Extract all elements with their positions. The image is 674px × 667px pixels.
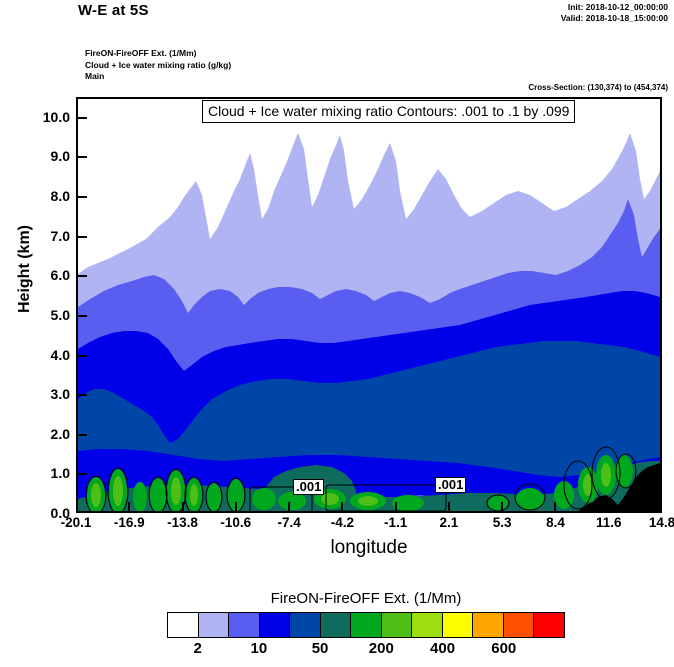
x-tick-label: -10.6 xyxy=(220,515,251,530)
y-tick-label: 10.0 xyxy=(14,109,70,125)
y-tick-label: 3.0 xyxy=(14,386,70,402)
colorbar-swatch xyxy=(351,613,382,637)
x-tick-mark xyxy=(128,502,130,511)
colorbar-swatch xyxy=(168,613,199,637)
y-tick-mark xyxy=(78,236,87,238)
x-tick-label: 14.8 xyxy=(649,515,674,530)
metadata-line-field: FireON-FireOFF Ext. (1/Mm) xyxy=(85,48,231,60)
colorbar-swatch xyxy=(443,613,474,637)
colorbar-swatch xyxy=(473,613,504,637)
colorbar-tick-label: 400 xyxy=(430,640,455,657)
colorbar-tick-label: 10 xyxy=(251,640,268,657)
contour-label-1: .001 xyxy=(293,479,324,495)
contour-label-2: .001 xyxy=(435,477,466,493)
y-axis-title: Height (km) xyxy=(16,209,34,329)
colorbar-swatch xyxy=(412,613,443,637)
contour-title-box: Cloud + Ice water mixing ratio Contours:… xyxy=(202,100,575,123)
y-tick-mark xyxy=(78,355,87,357)
init-time: Init: 2018-10-12_00:00:00 xyxy=(568,2,668,13)
y-tick-mark xyxy=(78,434,87,436)
x-tick-label: 5.3 xyxy=(493,515,512,530)
x-tick-mark xyxy=(501,502,503,511)
x-tick-mark xyxy=(608,502,610,511)
plot-area: .001 .001 xyxy=(76,97,662,513)
x-tick-label: -7.4 xyxy=(277,515,300,530)
x-tick-label: -1.1 xyxy=(384,515,407,530)
y-tick-mark xyxy=(78,315,87,317)
x-tick-label: -20.1 xyxy=(61,515,92,530)
x-tick-label: 11.6 xyxy=(596,515,622,530)
colorbar-swatch xyxy=(229,613,260,637)
x-tick-mark xyxy=(182,502,184,511)
y-tick-mark xyxy=(78,156,87,158)
page-title: W-E at 5S xyxy=(78,2,149,19)
x-tick-label: -13.8 xyxy=(167,515,198,530)
x-tick-mark xyxy=(235,502,237,511)
y-tick-label: 4.0 xyxy=(14,347,70,363)
y-tick-mark xyxy=(78,394,87,396)
x-tick-label: -4.2 xyxy=(331,515,354,530)
valid-time: Valid: 2018-10-18_15:00:00 xyxy=(561,13,668,24)
y-tick-mark xyxy=(78,117,87,119)
colorbar-title: FireON-FireOFF Ext. (1/Mm) xyxy=(167,590,565,607)
cross-section-info: Cross-Section: (130,374) to (454,374) xyxy=(528,83,668,92)
colorbar-swatch xyxy=(290,613,321,637)
y-tick-label: 9.0 xyxy=(14,148,70,164)
colorbar-swatch xyxy=(382,613,413,637)
colorbar-swatch xyxy=(534,613,564,637)
metadata-line-domain: Main xyxy=(85,71,231,83)
colorbar-tick-label: 200 xyxy=(369,640,394,657)
colorbar-swatch xyxy=(504,613,535,637)
colorbar-swatch xyxy=(321,613,352,637)
x-tick-mark xyxy=(288,502,290,511)
x-tick-label: -16.9 xyxy=(114,515,145,530)
metadata-block: FireON-FireOFF Ext. (1/Mm) Cloud + Ice w… xyxy=(85,48,231,83)
x-tick-label: 2.1 xyxy=(440,515,459,530)
y-tick-label: 2.0 xyxy=(14,426,70,442)
metadata-line-contour: Cloud + Ice water mixing ratio (g/kg) xyxy=(85,60,231,72)
y-tick-mark xyxy=(78,275,87,277)
x-axis-labels: -20.1-16.9-13.8-10.6-7.4-4.2-1.12.15.38.… xyxy=(76,515,662,535)
x-tick-mark xyxy=(341,502,343,511)
y-tick-label: 8.0 xyxy=(14,188,70,204)
y-tick-label: 1.0 xyxy=(14,465,70,481)
x-tick-label: 8.4 xyxy=(546,515,565,530)
x-tick-mark xyxy=(448,502,450,511)
colorbar-labels: 21050200400600 xyxy=(167,640,565,662)
colorbar-tick-label: 2 xyxy=(193,640,201,657)
x-tick-mark xyxy=(395,502,397,511)
y-tick-mark xyxy=(78,196,87,198)
cross-section-field xyxy=(78,99,660,511)
y-tick-mark xyxy=(78,473,87,475)
colorbar-tick-label: 600 xyxy=(491,640,516,657)
colorbar-swatch xyxy=(260,613,291,637)
colorbar-swatch xyxy=(199,613,230,637)
x-tick-mark xyxy=(554,502,556,511)
x-axis-title: longitude xyxy=(76,537,662,559)
colorbar xyxy=(167,612,565,638)
colorbar-tick-label: 50 xyxy=(312,640,329,657)
